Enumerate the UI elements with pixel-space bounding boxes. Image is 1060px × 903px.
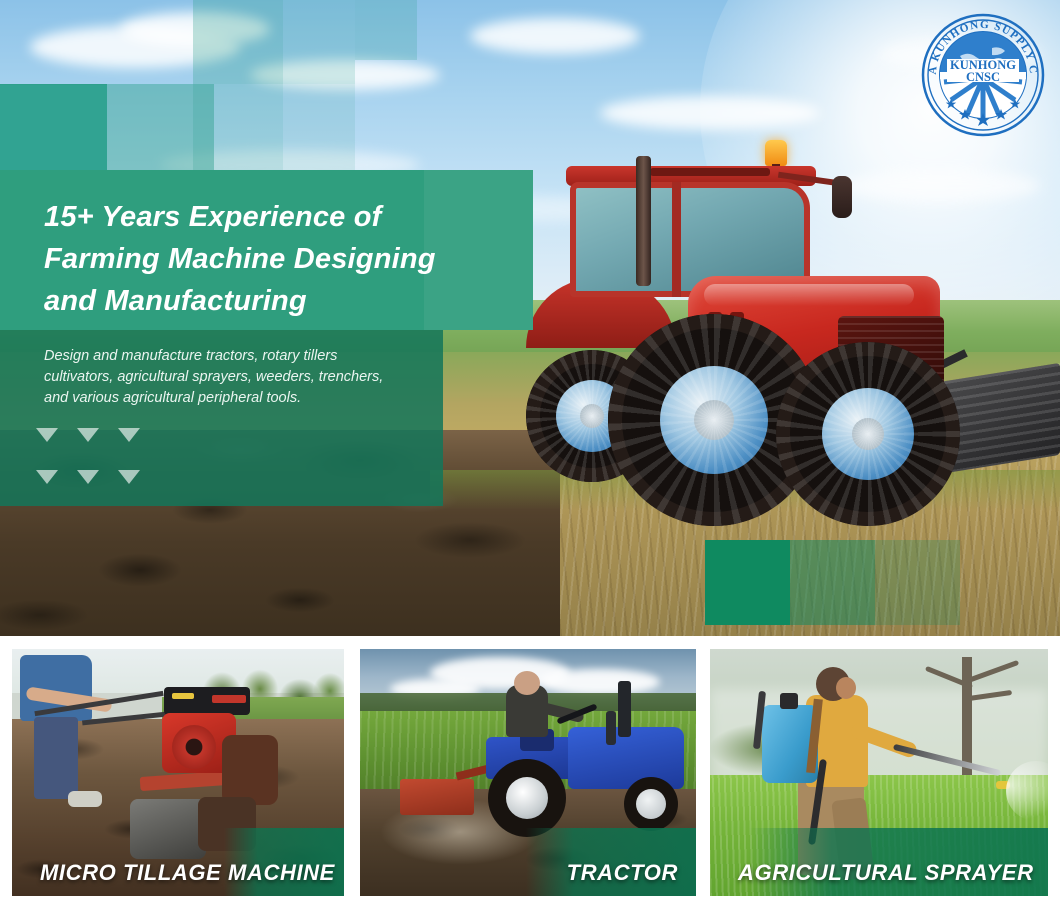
- driver-head: [514, 671, 540, 695]
- operator-face: [836, 677, 856, 699]
- triangle-decoration: [36, 428, 156, 494]
- company-logo: KUNHONG CNSC CHINA KUNHONG SUPPLY CHAIN: [920, 12, 1046, 138]
- product-card[interactable]: MICRO TILLAGE MACHINE: [10, 647, 346, 898]
- tank-decal: [172, 693, 194, 699]
- card-label: MICRO TILLAGE MACHINE: [40, 860, 335, 886]
- headline-line-1: 15+ Years Experience of: [44, 196, 524, 238]
- subcopy-line-1: Design and manufacture tractors, rotary …: [44, 346, 464, 367]
- headline: 15+ Years Experience of Farming Machine …: [44, 196, 524, 322]
- rotary-tiller-attachment: [400, 779, 474, 815]
- triangle-icon: [36, 428, 58, 442]
- mosaic-square: [283, 84, 355, 170]
- tank-decal: [212, 695, 246, 703]
- wheel-rim: [636, 789, 666, 819]
- subcopy: Design and manufacture tractors, rotary …: [44, 346, 464, 409]
- triangle-icon: [118, 428, 140, 442]
- cloud: [540, 669, 660, 695]
- tiller-wheel: [130, 799, 206, 859]
- subcopy-line-3: and various agricultural peripheral tool…: [44, 388, 464, 409]
- decor-block: [790, 540, 875, 625]
- tyre-tread: [776, 342, 960, 526]
- accent-block: [0, 85, 107, 170]
- air-filter: [606, 711, 616, 745]
- tractor-wheel: [776, 342, 960, 526]
- product-card[interactable]: TRACTOR: [358, 647, 698, 898]
- logo-inner-line-2: CNSC: [966, 70, 1000, 84]
- mosaic-square: [355, 0, 417, 60]
- decor-block: [705, 540, 790, 625]
- hero-section: 15+ Years Experience of Farming Machine …: [0, 0, 1060, 636]
- headline-line-2: Farming Machine Designing: [44, 238, 524, 280]
- triangle-icon: [77, 470, 99, 484]
- mosaic-square: [193, 84, 283, 170]
- operator-shoe: [68, 791, 102, 807]
- wheel-rim: [506, 777, 548, 819]
- subcopy-line-2: cultivators, agricultural sprayers, weed…: [44, 367, 464, 388]
- decor-block: [875, 540, 960, 625]
- triangle-icon: [77, 428, 99, 442]
- card-label: AGRICULTURAL SPRAYER: [738, 860, 1034, 886]
- engine-flywheel: [172, 725, 216, 769]
- card-label: TRACTOR: [567, 860, 678, 886]
- promo-banner: 15+ Years Experience of Farming Machine …: [0, 0, 1060, 903]
- bare-tree-trunk: [962, 657, 972, 777]
- tiller-tines: [222, 735, 278, 805]
- exhaust-stack: [618, 681, 631, 737]
- tank-cap: [780, 693, 798, 709]
- mosaic-square: [283, 0, 355, 84]
- triangle-icon: [118, 470, 140, 484]
- mosaic-square: [193, 0, 283, 84]
- product-card-strip: MICRO TILLAGE MACHINE: [0, 647, 1060, 903]
- headline-line-3: and Manufacturing: [44, 280, 524, 322]
- product-card[interactable]: AGRICULTURAL SPRAYER: [708, 647, 1050, 898]
- operator-legs: [34, 717, 78, 799]
- triangle-icon: [36, 470, 58, 484]
